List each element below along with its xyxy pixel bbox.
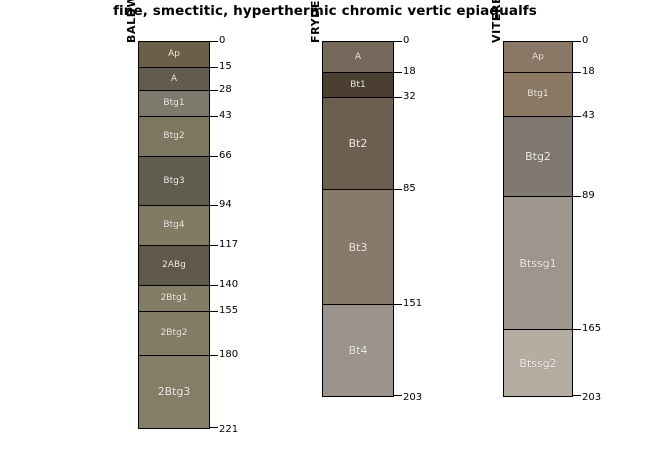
- horizon-label: Btg4: [163, 221, 184, 230]
- depth-label: 140: [219, 280, 238, 290]
- horizon-label: 2ABg: [162, 261, 186, 270]
- depth-tick: [209, 355, 218, 356]
- depth-tick: [393, 304, 402, 305]
- soil-profile-figure: fine, smectitic, hyperthermic chromic ve…: [0, 0, 650, 450]
- horizon-label: Btg1: [527, 90, 548, 99]
- site-label-viterbo: VITERBO: [490, 0, 503, 43]
- horizon-bt4: Bt4: [323, 305, 393, 396]
- depth-label: 0: [403, 36, 409, 46]
- depth-label: 85: [403, 184, 416, 194]
- depth-tick: [572, 41, 581, 42]
- depth-tick: [209, 427, 218, 428]
- horizon-label: Btg2: [163, 132, 184, 141]
- depth-tick: [209, 156, 218, 157]
- profile-column: ApABtg1Btg2Btg3Btg42ABg2Btg12Btg22Btg3: [138, 41, 210, 429]
- horizon-2btg3: 2Btg3: [139, 356, 209, 428]
- horizon-2btg2: 2Btg2: [139, 312, 209, 356]
- depth-tick: [572, 72, 581, 73]
- depth-label: 89: [582, 191, 595, 201]
- depth-label: 43: [582, 111, 595, 121]
- horizon-label: Btssg2: [519, 358, 556, 369]
- depth-label: 180: [219, 350, 238, 360]
- depth-label: 94: [219, 200, 232, 210]
- horizon-label: Btssg1: [519, 258, 556, 269]
- depth-tick: [393, 72, 402, 73]
- horizon-label: Bt3: [349, 242, 368, 253]
- site-label-frydek: FRYDEK: [309, 0, 322, 43]
- horizon-2abg: 2ABg: [139, 246, 209, 286]
- depth-label: 32: [403, 92, 416, 102]
- horizon-btg2: Btg2: [139, 117, 209, 157]
- depth-label: 203: [582, 393, 601, 403]
- horizon-label: Bt1: [350, 81, 365, 90]
- horizon-label: Ap: [168, 50, 180, 59]
- horizon-btg1: Btg1: [139, 91, 209, 117]
- horizon-label: A: [355, 53, 361, 62]
- horizon-label: Bt2: [349, 138, 368, 149]
- depth-label: 28: [219, 85, 232, 95]
- depth-tick: [209, 285, 218, 286]
- profile-column: ApBtg1Btg2Btssg1Btssg2: [503, 41, 573, 397]
- horizon-bt3: Bt3: [323, 190, 393, 305]
- horizon-btg4: Btg4: [139, 206, 209, 246]
- site-label-baldwin: BALDWIN: [125, 0, 138, 43]
- depth-label: 18: [582, 67, 595, 77]
- horizon-label: Btg3: [163, 177, 184, 186]
- depth-tick: [209, 205, 218, 206]
- depth-label: 165: [582, 324, 601, 334]
- depth-label: 0: [219, 36, 225, 46]
- depth-tick: [393, 395, 402, 396]
- depth-tick: [209, 90, 218, 91]
- horizon-label: 2Btg1: [161, 294, 188, 303]
- page-title: fine, smectitic, hyperthermic chromic ve…: [0, 3, 650, 19]
- depth-label: 117: [219, 240, 238, 250]
- depth-tick: [572, 196, 581, 197]
- horizon-2btg1: 2Btg1: [139, 286, 209, 312]
- depth-label: 221: [219, 425, 238, 435]
- depth-tick: [209, 245, 218, 246]
- horizon-btg3: Btg3: [139, 157, 209, 206]
- depth-label: 15: [219, 62, 232, 72]
- depth-tick: [209, 311, 218, 312]
- depth-label: 0: [582, 36, 588, 46]
- horizon-label: Bt4: [349, 345, 368, 356]
- horizon-label: A: [171, 75, 177, 84]
- horizon-a: A: [323, 42, 393, 73]
- depth-tick: [572, 329, 581, 330]
- horizon-a: A: [139, 68, 209, 91]
- horizon-label: 2Btg3: [158, 386, 191, 397]
- depth-tick: [393, 41, 402, 42]
- horizon-btssg2: Btssg2: [504, 330, 572, 396]
- depth-label: 66: [219, 151, 232, 161]
- horizon-label: Btg1: [163, 99, 184, 108]
- depth-tick: [572, 116, 581, 117]
- horizon-btssg1: Btssg1: [504, 197, 572, 330]
- horizon-bt2: Bt2: [323, 98, 393, 190]
- horizon-ap: Ap: [504, 42, 572, 73]
- depth-label: 203: [403, 393, 422, 403]
- horizon-btg2: Btg2: [504, 117, 572, 197]
- depth-tick: [572, 395, 581, 396]
- horizon-label: Btg2: [525, 151, 551, 162]
- depth-label: 43: [219, 111, 232, 121]
- depth-tick: [393, 97, 402, 98]
- horizon-label: 2Btg2: [161, 329, 188, 338]
- depth-tick: [209, 116, 218, 117]
- horizon-label: Ap: [532, 53, 544, 62]
- profile-column: ABt1Bt2Bt3Bt4: [322, 41, 394, 397]
- horizon-btg1: Btg1: [504, 73, 572, 117]
- depth-tick: [209, 41, 218, 42]
- depth-tick: [209, 67, 218, 68]
- depth-label: 151: [403, 299, 422, 309]
- horizon-bt1: Bt1: [323, 73, 393, 97]
- depth-label: 18: [403, 67, 416, 77]
- horizon-ap: Ap: [139, 42, 209, 68]
- depth-label: 155: [219, 306, 238, 316]
- depth-tick: [393, 189, 402, 190]
